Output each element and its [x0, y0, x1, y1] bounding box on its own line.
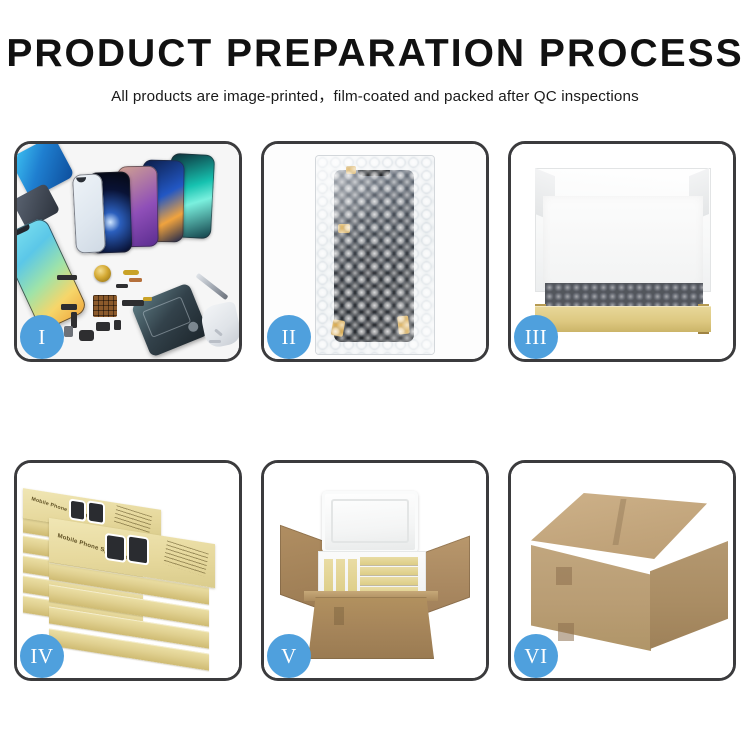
part-small-module — [64, 326, 73, 337]
carton-right-face — [650, 541, 728, 649]
part-flex-cable-2 — [122, 300, 144, 306]
step-panel-4: Mobile Phone Spare Parts Mobile Phone Sp… — [14, 460, 242, 681]
step-panel-6: VI Sealed outer shipping carton ready fo… — [508, 460, 736, 681]
foam-sheet — [543, 196, 703, 288]
part-gold-connector — [123, 270, 139, 275]
part-button — [114, 320, 121, 330]
page-title: PRODUCT PREPARATION PROCESS — [0, 34, 750, 75]
box-label-phone-3 — [107, 535, 124, 561]
chip-board-component — [93, 295, 117, 317]
box-label-phone-4 — [129, 537, 147, 564]
part-camera-module — [96, 322, 110, 331]
screen-protector-front — [72, 173, 106, 253]
step-panel-2: II Screen assembly sealed in bubble wrap… — [261, 141, 489, 362]
product-preparation-infographic: PRODUCT PREPARATION PROCESS All products… — [0, 0, 750, 750]
carton-tape-mark — [334, 607, 344, 625]
yellow-box-5 — [360, 567, 418, 575]
step-badge-6: VI — [514, 634, 558, 678]
yellow-box-6 — [360, 577, 418, 585]
part-speaker-box — [79, 330, 94, 341]
bubble-wrapped-contents — [545, 283, 703, 308]
step-badge-2: II — [267, 315, 311, 359]
part-screw-1 — [209, 340, 221, 343]
step-panel-3: III Wrapped item placed in kraft box wit… — [508, 141, 736, 362]
phone-back-housing — [131, 282, 209, 357]
carton-tape-upper — [556, 567, 572, 585]
header: PRODUCT PREPARATION PROCESS All products… — [0, 34, 750, 106]
foam-box-lid — [322, 491, 418, 553]
carton-front-panel — [308, 597, 434, 659]
part-strip-2 — [116, 284, 128, 288]
box-label-spec-lines-front — [163, 540, 208, 576]
process-steps-grid: I Mobile phones, screen protectors and s… — [14, 141, 736, 681]
step-badge-4: IV — [20, 634, 64, 678]
box-label-phone-1 — [71, 501, 84, 520]
part-gold-pad — [143, 297, 152, 301]
yellow-boxes-group — [324, 557, 420, 595]
part-strip-3 — [61, 304, 77, 310]
yellow-box-1 — [324, 559, 333, 595]
page-subtitle: All products are image-printed，film-coat… — [0, 84, 750, 106]
speaker-component — [94, 265, 111, 282]
carton-left-face — [531, 545, 651, 651]
step-badge-1: I — [20, 315, 64, 359]
yellow-box-2 — [336, 559, 345, 595]
bubble-wrap-bag — [316, 156, 434, 354]
yellow-box-4 — [360, 557, 418, 565]
part-copper-strip — [129, 278, 142, 282]
part-strip-1 — [57, 275, 77, 280]
box-front-panel — [535, 306, 711, 332]
carton-tape-lower — [558, 623, 574, 641]
step-badge-3: III — [514, 315, 558, 359]
tweezers-tool — [195, 273, 228, 300]
step-badge-5: V — [267, 634, 311, 678]
yellow-box-3 — [348, 559, 357, 595]
step-panel-1: I Mobile phones, screen protectors and s… — [14, 141, 242, 362]
bag-sheen — [316, 156, 434, 354]
step-panel-5: V Boxes loaded into foam-lined shipping … — [261, 460, 489, 681]
box-label-phone-2 — [89, 503, 103, 523]
